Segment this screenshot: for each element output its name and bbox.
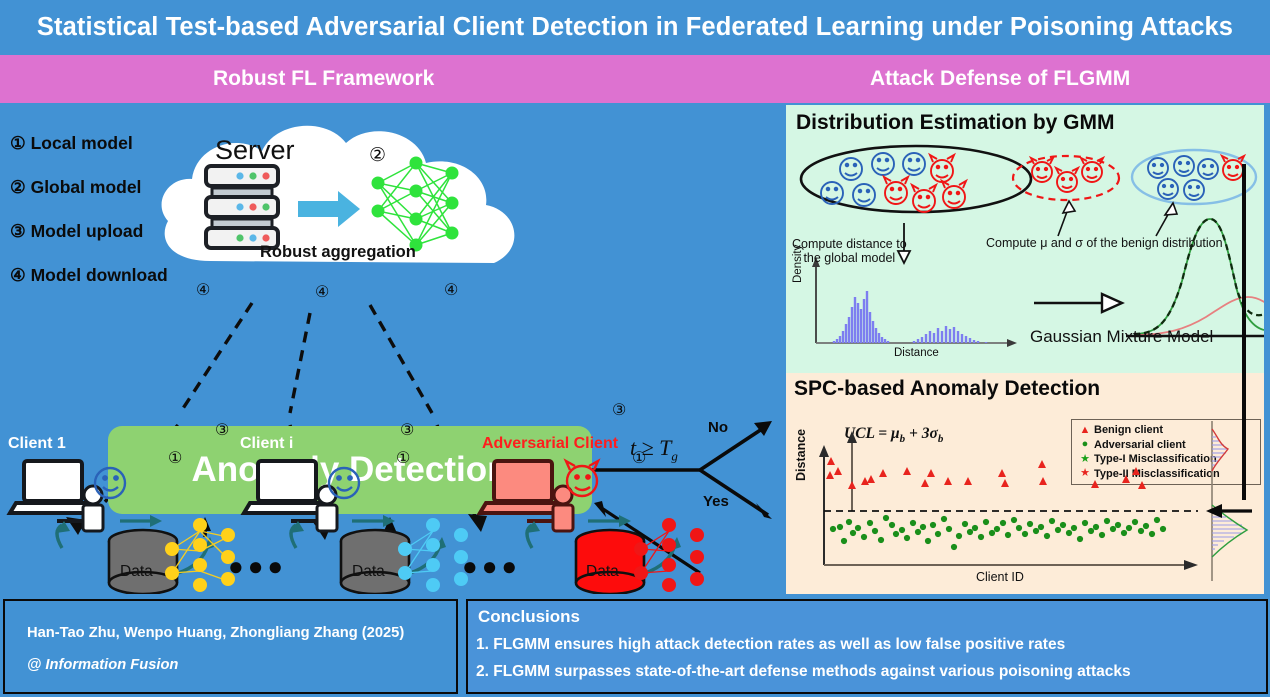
footer-authors: Han-Tao Zhu, Wenpo Huang, Zhongliang Zha… bbox=[27, 625, 404, 641]
spc-panel-title: SPC-based Anomaly Detection bbox=[794, 377, 1100, 401]
marker-local-3: ① bbox=[632, 448, 646, 468]
ellipsis-1: ●●● bbox=[228, 553, 287, 579]
section-band: Robust FL Framework Attack Defense of FL… bbox=[0, 55, 1270, 103]
caption-compute-distance-text: Compute distance to the global model bbox=[792, 237, 907, 265]
caption-compute-distance: Compute distance to the global model bbox=[792, 237, 907, 265]
gmm-transform-arrow bbox=[1034, 294, 1122, 312]
caption-compute-mu-sigma: Compute μ and σ of the benign distributi… bbox=[986, 236, 1223, 250]
data-label-3: Data bbox=[586, 563, 619, 581]
malicious-cluster-ellipse bbox=[1013, 156, 1119, 200]
benign-face-icon-client1 bbox=[95, 468, 125, 498]
spc-panel: SPC-based Anomaly Detection UCL = μb + 3… bbox=[786, 373, 1264, 594]
mixed-population-ellipse bbox=[801, 146, 1031, 212]
marker-download-1: ④ bbox=[196, 280, 210, 300]
footer-venue: @ Information Fusion bbox=[27, 657, 178, 673]
conclusion-item-2: 2. FLGMM surpasses state-of-the-art defe… bbox=[476, 663, 1131, 681]
benign-faces-cluster bbox=[1148, 156, 1218, 200]
cluster-pointer-arrows bbox=[1058, 201, 1177, 236]
band-label-framework: Robust FL Framework bbox=[213, 67, 434, 91]
benign-points bbox=[826, 457, 1146, 489]
histogram-ylabel: Density bbox=[792, 245, 804, 283]
marker-download-3: ④ bbox=[444, 280, 458, 300]
conclusion-item-1: 1. FLGMM ensures high attack detection r… bbox=[476, 636, 1065, 654]
gaussian-mixture-model-label: Gaussian Mixture Model bbox=[1030, 327, 1213, 347]
poster-title-bar: Statistical Test-based Adversarial Clien… bbox=[0, 0, 1270, 55]
poster-root: Statistical Test-based Adversarial Clien… bbox=[0, 0, 1270, 697]
conclusions-title: Conclusions bbox=[478, 607, 580, 627]
histogram-xlabel: Distance bbox=[894, 347, 939, 359]
spc-xlabel: Client ID bbox=[976, 570, 1024, 584]
devil-face-icon-adversarial bbox=[566, 461, 598, 496]
marker-download-2: ④ bbox=[315, 282, 329, 302]
benign-faces-mixed bbox=[821, 153, 925, 206]
clients-row-graphic bbox=[0, 433, 784, 594]
adversarial-points bbox=[830, 515, 1166, 550]
database-icon-adversarial bbox=[576, 530, 644, 594]
page-title: Statistical Test-based Adversarial Clien… bbox=[37, 13, 1233, 42]
marginal-density-plot bbox=[1212, 421, 1247, 581]
database-icon-client1 bbox=[109, 530, 177, 594]
data-label-1: Data bbox=[120, 563, 153, 581]
ellipsis-2: ●●● bbox=[462, 553, 521, 579]
footer-authors-box: Han-Tao Zhu, Wenpo Huang, Zhongliang Zha… bbox=[3, 599, 458, 694]
malicious-faces-cluster bbox=[1031, 158, 1103, 192]
caption-compute-mu-sigma-text: Compute μ and σ of the benign distributi… bbox=[986, 236, 1223, 250]
gmm-panel: Distribution Estimation by GMM bbox=[786, 105, 1264, 373]
spc-scatter-plot bbox=[786, 401, 1264, 594]
marker-local-1: ① bbox=[168, 448, 182, 468]
distance-histogram bbox=[812, 257, 1017, 347]
database-icon-client2 bbox=[341, 530, 409, 594]
band-label-defense: Attack Defense of FLGMM bbox=[870, 67, 1130, 91]
robust-fl-framework-panel: ① Local model ② Global model ③ Model upl… bbox=[0, 103, 784, 594]
data-label-2: Data bbox=[352, 563, 385, 581]
benign-face-icon-client2 bbox=[329, 468, 359, 498]
spc-ylabel: Distance bbox=[794, 429, 808, 481]
marker-upload-3: ③ bbox=[612, 400, 626, 420]
footer-conclusions-box: Conclusions 1. FLGMM ensures high attack… bbox=[466, 599, 1268, 694]
marker-local-2: ① bbox=[396, 448, 410, 468]
